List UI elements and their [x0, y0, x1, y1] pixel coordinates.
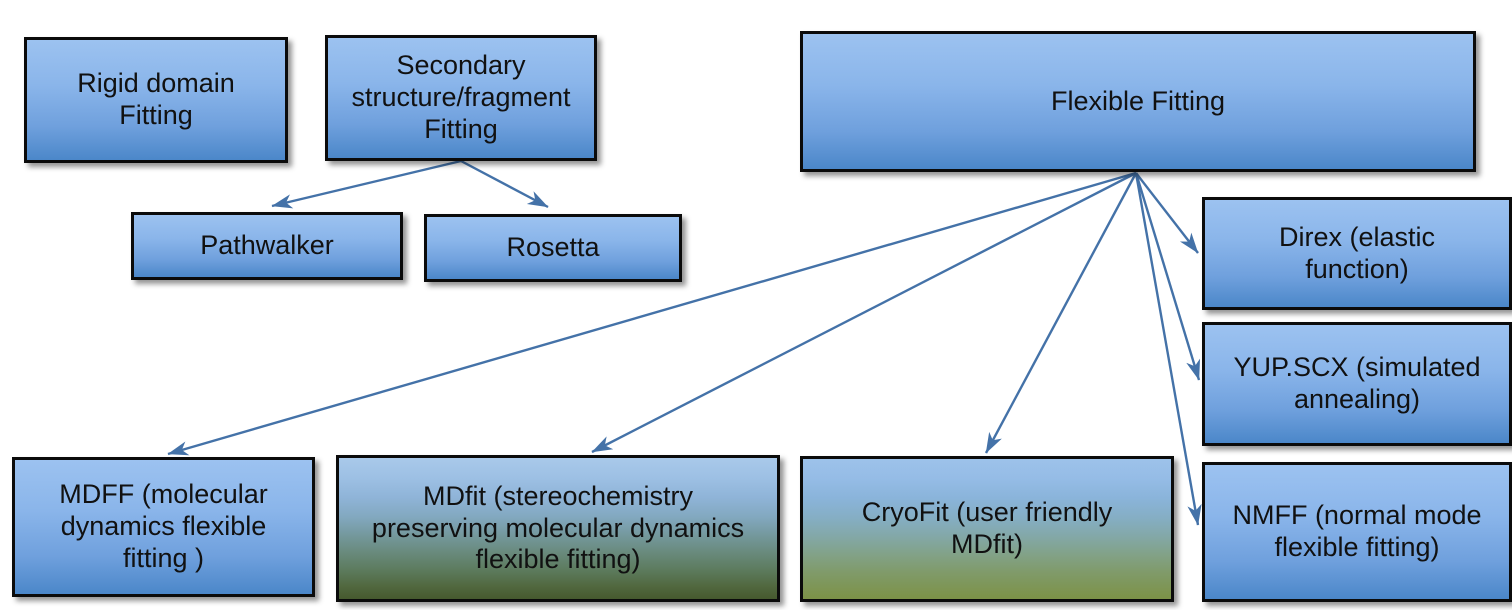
arrow-flexible-to-direx [1136, 173, 1198, 253]
node-label-line: annealing) [1294, 384, 1420, 414]
node-nmff[interactable]: NMFF (normal mode flexible fitting) [1202, 462, 1512, 602]
node-flexible-fitting[interactable]: Flexible Fitting [800, 31, 1476, 172]
node-label-line: function) [1305, 254, 1409, 284]
node-label: NMFF (normal mode flexible fitting) [1213, 500, 1501, 564]
node-label-line: Direx (elastic [1279, 222, 1435, 252]
node-label: Pathwalker [142, 230, 392, 262]
node-label: CryoFit (user friendly MDfit) [811, 497, 1163, 561]
arrow-secondary-to-rosetta [461, 161, 548, 207]
node-direx[interactable]: Direx (elastic function) [1202, 197, 1512, 310]
node-label-line: MDfit) [951, 529, 1023, 559]
node-label-line: Fitting [119, 100, 193, 130]
node-secondary-structure-fitting[interactable]: Secondary structure/fragment Fitting [325, 35, 597, 161]
arrow-flexible-to-cryofit [986, 173, 1136, 453]
node-label-line: MDFF (molecular [59, 479, 268, 509]
node-yup-scx[interactable]: YUP.SCX (simulated annealing) [1202, 322, 1512, 446]
node-mdfit[interactable]: MDfit (stereochemistry preserving molecu… [336, 455, 780, 602]
node-label-line: NMFF (normal mode [1232, 500, 1481, 530]
node-label: Flexible Fitting [811, 86, 1465, 118]
diagram-canvas: Rigid domain Fitting Secondary structure… [0, 0, 1512, 610]
node-label: Direx (elastic function) [1213, 222, 1501, 286]
node-cryofit[interactable]: CryoFit (user friendly MDfit) [800, 456, 1174, 602]
arrow-flexible-to-yupscx [1136, 173, 1199, 380]
node-label-line: flexible fitting) [475, 544, 640, 574]
node-label: Secondary structure/fragment Fitting [336, 50, 586, 146]
node-label-line: Rigid domain [77, 68, 235, 98]
node-label: MDFF (molecular dynamics flexible fittin… [23, 479, 304, 575]
node-label: Rigid domain Fitting [35, 68, 277, 132]
node-label-line: dynamics flexible [61, 511, 267, 541]
node-label-line: Secondary [396, 50, 525, 80]
node-pathwalker[interactable]: Pathwalker [131, 212, 403, 280]
node-label: MDfit (stereochemistry preserving molecu… [347, 481, 769, 577]
node-label-line: MDfit (stereochemistry [423, 481, 693, 511]
node-mdff[interactable]: MDFF (molecular dynamics flexible fittin… [12, 457, 315, 597]
arrow-secondary-to-pathwalker [272, 161, 461, 206]
node-label-line: structure/fragment [351, 82, 570, 112]
node-label-line: fitting ) [123, 543, 204, 573]
node-rosetta[interactable]: Rosetta [424, 214, 682, 282]
node-label-line: flexible fitting) [1274, 532, 1439, 562]
node-rigid-domain-fitting[interactable]: Rigid domain Fitting [24, 37, 288, 163]
node-label: Rosetta [435, 232, 671, 264]
node-label-line: preserving molecular dynamics [372, 513, 744, 543]
node-label-line: CryoFit (user friendly [862, 497, 1113, 527]
node-label-line: YUP.SCX (simulated [1233, 352, 1480, 382]
node-label: YUP.SCX (simulated annealing) [1213, 352, 1501, 416]
node-label-line: Fitting [424, 114, 498, 144]
